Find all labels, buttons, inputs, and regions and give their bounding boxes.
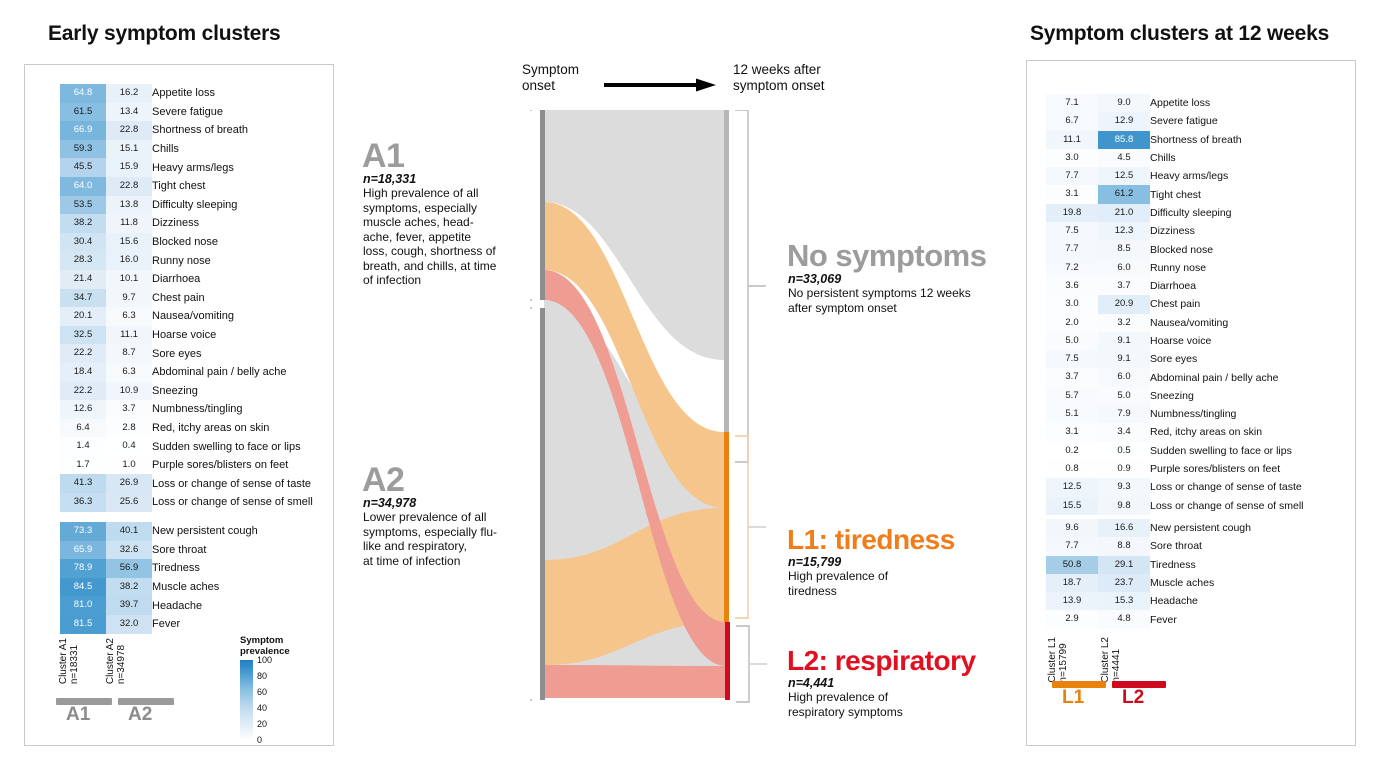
heatmap-cell-l1: 7.7 [1046, 167, 1098, 185]
heatmap-cell-l2: 3.7 [1098, 277, 1150, 295]
heatmap-row: 38.211.8Dizziness [60, 214, 313, 233]
heatmap-cell-l2: 12.5 [1098, 167, 1150, 185]
bracket-l1 [735, 436, 748, 618]
heatmap-row: 3.76.0Abdominal pain / belly ache [1046, 368, 1304, 386]
heatmap-cell-a2: 56.9 [106, 559, 152, 578]
symptom-label: Blocked nose [1150, 240, 1304, 258]
heatmap-cell-a1: 28.3 [60, 251, 106, 270]
heatmap-row: 81.532.0Fever [60, 615, 258, 634]
symptom-label: Tiredness [152, 559, 258, 578]
heatmap-cell-l1: 0.2 [1046, 442, 1098, 460]
node-bar-a1 [540, 110, 545, 300]
heatmap-cell-a1: 61.5 [60, 103, 106, 122]
heatmap-cell-a1: 66.9 [60, 121, 106, 140]
symptom-label: Runny nose [1150, 259, 1304, 277]
heatmap-row: 12.63.7Numbness/tingling [60, 400, 313, 419]
symptom-label: Nausea/vomiting [152, 307, 313, 326]
heatmap-cell-a2: 15.1 [106, 140, 152, 159]
heatmap-cell-l1: 3.6 [1046, 277, 1098, 295]
heatmap-cell-a1: 30.4 [60, 233, 106, 252]
heatmap-cell-l2: 21.0 [1098, 204, 1150, 222]
symptom-label: Hoarse voice [1150, 332, 1304, 350]
heatmap-row: 3.04.5Chills [1046, 149, 1304, 167]
heatmap-row: 12.59.3Loss or change of sense of taste [1046, 478, 1304, 496]
symptom-label: Severe fatigue [1150, 112, 1304, 130]
heatmap-cell-l2: 12.9 [1098, 112, 1150, 130]
heatmap-cell-l2: 20.9 [1098, 295, 1150, 313]
symptom-label: Sore eyes [152, 344, 313, 363]
heatmap-row: 13.915.3Headache [1046, 592, 1251, 610]
heatmap-cell-l2: 29.1 [1098, 556, 1150, 574]
heatmap-row: 7.78.5Blocked nose [1046, 240, 1304, 258]
heatmap-row: 5.75.0Sneezing [1046, 387, 1304, 405]
heatmap-cell-a1: 34.7 [60, 289, 106, 308]
heatmap-cell-l2: 6.0 [1098, 259, 1150, 277]
heatmap-cell-a2: 15.6 [106, 233, 152, 252]
legend-title: Symptom prevalence [240, 636, 312, 657]
heatmap-cell-a2: 10.9 [106, 382, 152, 401]
heatmap-row: 3.161.2Tight chest [1046, 185, 1304, 203]
heatmap-cell-a2: 40.1 [106, 522, 152, 541]
week12-heatmap-block-1: 7.19.0Appetite loss6.712.9Severe fatigue… [1046, 94, 1304, 515]
cluster-l1-caption: Cluster L1 n=15799 [1047, 637, 1069, 683]
bracket-a2 [530, 308, 532, 700]
heatmap-cell-l2: 5.0 [1098, 387, 1150, 405]
symptom-label: Fever [1150, 610, 1251, 628]
heatmap-cell-l2: 0.5 [1098, 442, 1150, 460]
heatmap-cell-l1: 3.0 [1046, 295, 1098, 313]
heatmap-cell-a1: 20.1 [60, 307, 106, 326]
heatmap-cell-l2: 9.0 [1098, 94, 1150, 112]
symptom-label: Chest pain [152, 289, 313, 308]
heatmap-cell-a2: 6.3 [106, 363, 152, 382]
symptom-label: Abdominal pain / belly ache [152, 363, 313, 382]
heatmap-cell-l1: 11.1 [1046, 131, 1098, 149]
node-title-a2: A2 [362, 461, 404, 500]
symptom-label: Runny nose [152, 251, 313, 270]
heatmap-cell-l1: 7.2 [1046, 259, 1098, 277]
heatmap-cell-a2: 2.8 [106, 419, 152, 438]
heatmap-row: 19.821.0Difficulty sleeping [1046, 204, 1304, 222]
heatmap-cell-a1: 6.4 [60, 419, 106, 438]
node-n-l2: n=4,441 [788, 676, 834, 690]
heatmap-cell-a2: 8.7 [106, 344, 152, 363]
node-desc-a1: High prevalence of all symptoms, especia… [363, 186, 496, 288]
heatmap-row: 84.538.2Muscle aches [60, 578, 258, 597]
node-n-l1: n=15,799 [788, 555, 841, 569]
symptom-label: Diarrhoea [1150, 277, 1304, 295]
heatmap-cell-l2: 12.3 [1098, 222, 1150, 240]
heatmap-cell-l1: 7.7 [1046, 537, 1098, 555]
heatmap-row: 5.17.9Numbness/tingling [1046, 405, 1304, 423]
heatmap-cell-a1: 45.5 [60, 158, 106, 177]
cluster-a2-caption: Cluster A2 n=34978 [105, 638, 127, 684]
symptom-label: Sneezing [152, 382, 313, 401]
symptom-label: Abdominal pain / belly ache [1150, 368, 1304, 386]
symptom-label: Tiredness [1150, 556, 1251, 574]
node-desc-nosymptoms: No persistent symptoms 12 weeks after sy… [788, 286, 971, 315]
heatmap-cell-l1: 6.7 [1046, 112, 1098, 130]
heatmap-cell-l2: 9.3 [1098, 478, 1150, 496]
page-title-right: Symptom clusters at 12 weeks [1030, 22, 1329, 46]
heatmap-cell-a1: 12.6 [60, 400, 106, 419]
node-title-a1: A1 [362, 137, 404, 176]
heatmap-row: 73.340.1New persistent cough [60, 522, 258, 541]
legend: Symptom prevalence 100806040200 [240, 636, 312, 740]
heatmap-row: 64.816.2Appetite loss [60, 84, 313, 103]
bracket-nosymptoms [735, 110, 748, 462]
heatmap-cell-l1: 13.9 [1046, 592, 1098, 610]
heatmap-cell-l2: 6.0 [1098, 368, 1150, 386]
heatmap-row: 61.513.4Severe fatigue [60, 103, 313, 122]
heatmap-cell-a2: 3.7 [106, 400, 152, 419]
heatmap-cell-a1: 64.8 [60, 84, 106, 103]
heatmap-row: 6.712.9Severe fatigue [1046, 112, 1304, 130]
symptom-label: Chest pain [1150, 295, 1304, 313]
symptom-label: Difficulty sleeping [152, 196, 313, 215]
symptom-label: Diarrhoea [152, 270, 313, 289]
heatmap-cell-l2: 23.7 [1098, 574, 1150, 592]
symptom-label: Severe fatigue [152, 103, 313, 122]
cluster-label-l2: L2 [1122, 687, 1144, 709]
node-title-nosymptoms: No symptoms [787, 238, 986, 274]
symptom-label: Muscle aches [152, 578, 258, 597]
heatmap-row: 45.515.9Heavy arms/legs [60, 158, 313, 177]
flow-a2-l2 [544, 665, 726, 698]
heatmap-row: 18.46.3Abdominal pain / belly ache [60, 363, 313, 382]
heatmap-cell-l1: 3.7 [1046, 368, 1098, 386]
bracket-a1 [530, 110, 532, 300]
heatmap-cell-a1: 22.2 [60, 344, 106, 363]
heatmap-cell-l2: 4.5 [1098, 149, 1150, 167]
heatmap-cell-a1: 21.4 [60, 270, 106, 289]
heatmap-cell-a1: 81.5 [60, 615, 106, 634]
heatmap-cell-a2: 13.4 [106, 103, 152, 122]
heatmap-row: 50.829.1Tiredness [1046, 556, 1251, 574]
node-n-a2: n=34,978 [363, 496, 416, 510]
symptom-label: Fever [152, 615, 258, 634]
heatmap-row: 2.94.8Fever [1046, 610, 1251, 628]
heatmap-cell-l1: 50.8 [1046, 556, 1098, 574]
heatmap-row: 3.020.9Chest pain [1046, 295, 1304, 313]
legend-gradient-bar [240, 660, 253, 740]
heatmap-row: 18.723.7Muscle aches [1046, 574, 1251, 592]
heatmap-row: 22.210.9Sneezing [60, 382, 313, 401]
heatmap-cell-a1: 81.0 [60, 596, 106, 615]
heatmap-cell-l1: 9.6 [1046, 519, 1098, 537]
heatmap-row: 64.022.8Tight chest [60, 177, 313, 196]
heatmap-cell-l2: 85.8 [1098, 131, 1150, 149]
heatmap-cell-l1: 7.7 [1046, 240, 1098, 258]
symptom-label: Shortness of breath [1150, 131, 1304, 149]
heatmap-cell-l2: 7.9 [1098, 405, 1150, 423]
heatmap-cell-l1: 12.5 [1046, 478, 1098, 496]
heatmap-row: 2.03.2Nausea/vomiting [1046, 314, 1304, 332]
heatmap-row: 36.325.6Loss or change of sense of smell [60, 493, 313, 512]
heatmap-cell-a1: 64.0 [60, 177, 106, 196]
heatmap-cell-a2: 6.3 [106, 307, 152, 326]
symptom-label: Sudden swelling to face or lips [1150, 442, 1304, 460]
heatmap-cell-a2: 22.8 [106, 121, 152, 140]
symptom-label: Red, itchy areas on skin [1150, 423, 1304, 441]
heatmap-row: 30.415.6Blocked nose [60, 233, 313, 252]
heatmap-row: 15.59.8Loss or change of sense of smell [1046, 497, 1304, 515]
heatmap-cell-l1: 5.0 [1046, 332, 1098, 350]
heatmap-row: 7.59.1Sore eyes [1046, 350, 1304, 368]
cluster-label-l1: L1 [1062, 687, 1084, 709]
symptom-label: Sudden swelling to face or lips [152, 437, 313, 456]
early-heatmap-block-1: 64.816.2Appetite loss61.513.4Severe fati… [60, 84, 313, 512]
symptom-label: Hoarse voice [152, 326, 313, 345]
heatmap-cell-l2: 4.8 [1098, 610, 1150, 628]
heatmap-cell-a2: 38.2 [106, 578, 152, 597]
heatmap-cell-l1: 7.1 [1046, 94, 1098, 112]
symptom-label: Heavy arms/legs [152, 158, 313, 177]
early-heatmap-block-2: 73.340.1New persistent cough65.932.6Sore… [60, 522, 258, 634]
symptom-label: Loss or change of sense of taste [1150, 478, 1304, 496]
symptom-label: Chills [1150, 149, 1304, 167]
legend-tick: 0 [257, 735, 262, 745]
heatmap-cell-a1: 41.3 [60, 474, 106, 493]
symptom-label: Loss or change of sense of taste [152, 474, 313, 493]
bracket-l2 [736, 626, 749, 702]
heatmap-cell-a1: 78.9 [60, 559, 106, 578]
node-desc-l1: High prevalence of tiredness [788, 569, 888, 598]
node-title-l2: L2: respiratory [787, 645, 976, 677]
node-bar-a2 [540, 308, 545, 700]
heatmap-row: 81.039.7Headache [60, 596, 258, 615]
heatmap-row: 0.80.9Purple sores/blisters on feet [1046, 460, 1304, 478]
node-desc-a2: Lower prevalence of all symptoms, especi… [363, 510, 497, 568]
heatmap-cell-l1: 19.8 [1046, 204, 1098, 222]
symptom-label: Tight chest [1150, 185, 1304, 203]
heatmap-cell-a2: 11.1 [106, 326, 152, 345]
center-header-12weeks: 12 weeks after symptom onset [733, 62, 825, 94]
heatmap-cell-a2: 11.8 [106, 214, 152, 233]
heatmap-cell-a1: 65.9 [60, 541, 106, 560]
symptom-label: Sneezing [1150, 387, 1304, 405]
symptom-label: Sore throat [152, 541, 258, 560]
symptom-label: Purple sores/blisters on feet [1150, 460, 1304, 478]
heatmap-row: 6.42.8Red, itchy areas on skin [60, 419, 313, 438]
heatmap-cell-l1: 18.7 [1046, 574, 1098, 592]
cluster-l2-caption: Cluster L2 n=4441 [1100, 637, 1122, 683]
heatmap-cell-l2: 8.8 [1098, 537, 1150, 555]
heatmap-row: 34.79.7Chest pain [60, 289, 313, 308]
legend-tick: 20 [257, 719, 267, 729]
heatmap-cell-a2: 32.0 [106, 615, 152, 634]
heatmap-cell-a1: 59.3 [60, 140, 106, 159]
symptom-label: Purple sores/blisters on feet [152, 456, 313, 475]
heatmap-row: 78.956.9Tiredness [60, 559, 258, 578]
heatmap-cell-a2: 22.8 [106, 177, 152, 196]
right-arrow-icon [604, 78, 716, 92]
heatmap-cell-l1: 3.1 [1046, 185, 1098, 203]
symptom-label: Nausea/vomiting [1150, 314, 1304, 332]
heatmap-cell-l2: 16.6 [1098, 519, 1150, 537]
symptom-label: Dizziness [152, 214, 313, 233]
heatmap-cell-a1: 1.7 [60, 456, 106, 475]
cluster-label-a1: A1 [66, 704, 90, 726]
heatmap-cell-l2: 0.9 [1098, 460, 1150, 478]
heatmap-cell-l2: 3.4 [1098, 423, 1150, 441]
heatmap-row: 20.16.3Nausea/vomiting [60, 307, 313, 326]
legend-tick: 100 [257, 655, 272, 665]
heatmap-cell-l2: 8.5 [1098, 240, 1150, 258]
heatmap-row: 3.63.7Diarrhoea [1046, 277, 1304, 295]
heatmap-cell-a2: 16.0 [106, 251, 152, 270]
week12-heatmap-block-2: 9.616.6New persistent cough7.78.8Sore th… [1046, 519, 1251, 629]
heatmap-cell-l1: 7.5 [1046, 222, 1098, 240]
heatmap-cell-a2: 39.7 [106, 596, 152, 615]
legend-tick: 80 [257, 671, 267, 681]
heatmap-row: 7.78.8Sore throat [1046, 537, 1251, 555]
symptom-label: Appetite loss [1150, 94, 1304, 112]
symptom-label: Dizziness [1150, 222, 1304, 240]
heatmap-row: 7.26.0Runny nose [1046, 259, 1304, 277]
node-bar-l2 [725, 622, 730, 700]
center-header-onset: Symptom onset [522, 62, 579, 94]
heatmap-cell-a2: 32.6 [106, 541, 152, 560]
heatmap-cell-l1: 2.9 [1046, 610, 1098, 628]
heatmap-cell-l2: 9.1 [1098, 332, 1150, 350]
node-bar-l1 [724, 432, 729, 622]
heatmap-cell-a2: 1.0 [106, 456, 152, 475]
heatmap-row: 32.511.1Hoarse voice [60, 326, 313, 345]
heatmap-cell-a2: 25.6 [106, 493, 152, 512]
symptom-label: Blocked nose [152, 233, 313, 252]
node-title-l1: L1: tiredness [787, 524, 955, 556]
heatmap-row: 28.316.0Runny nose [60, 251, 313, 270]
symptom-label: Red, itchy areas on skin [152, 419, 313, 438]
symptom-label: Loss or change of sense of smell [152, 493, 313, 512]
heatmap-cell-a2: 10.1 [106, 270, 152, 289]
heatmap-cell-a1: 32.5 [60, 326, 106, 345]
symptom-label: Difficulty sleeping [1150, 204, 1304, 222]
heatmap-row: 11.185.8Shortness of breath [1046, 131, 1304, 149]
heatmap-cell-a2: 9.7 [106, 289, 152, 308]
heatmap-row: 65.932.6Sore throat [60, 541, 258, 560]
heatmap-cell-l1: 0.8 [1046, 460, 1098, 478]
symptom-label: Muscle aches [1150, 574, 1251, 592]
symptom-label: New persistent cough [1150, 519, 1251, 537]
symptom-label: Shortness of breath [152, 121, 313, 140]
heatmap-cell-l1: 3.1 [1046, 423, 1098, 441]
heatmap-row: 21.410.1Diarrhoea [60, 270, 313, 289]
heatmap-cell-a1: 38.2 [60, 214, 106, 233]
legend-tick: 40 [257, 703, 267, 713]
heatmap-row: 22.28.7Sore eyes [60, 344, 313, 363]
symptom-label: New persistent cough [152, 522, 258, 541]
heatmap-row: 1.40.4Sudden swelling to face or lips [60, 437, 313, 456]
heatmap-cell-a2: 16.2 [106, 84, 152, 103]
heatmap-row: 41.326.9Loss or change of sense of taste [60, 474, 313, 493]
node-n-nosymptoms: n=33,069 [788, 272, 841, 286]
heatmap-cell-a1: 53.5 [60, 196, 106, 215]
symptom-label: Tight chest [152, 177, 313, 196]
heatmap-row: 66.922.8Shortness of breath [60, 121, 313, 140]
heatmap-cell-l1: 15.5 [1046, 497, 1098, 515]
node-desc-l2: High prevalence of respiratory symptoms [788, 690, 903, 719]
heatmap-cell-l1: 3.0 [1046, 149, 1098, 167]
heatmap-row: 7.712.5Heavy arms/legs [1046, 167, 1304, 185]
cluster-a1-caption: Cluster A1 n=18331 [58, 638, 80, 684]
symptom-label: Chills [152, 140, 313, 159]
heatmap-cell-l1: 5.7 [1046, 387, 1098, 405]
heatmap-cell-l2: 61.2 [1098, 185, 1150, 203]
heatmap-row: 3.13.4Red, itchy areas on skin [1046, 423, 1304, 441]
node-n-a1: n=18,331 [363, 172, 416, 186]
heatmap-row: 1.71.0Purple sores/blisters on feet [60, 456, 313, 475]
heatmap-cell-a1: 18.4 [60, 363, 106, 382]
legend-tick: 60 [257, 687, 267, 697]
symptom-label: Numbness/tingling [152, 400, 313, 419]
symptom-label: Headache [152, 596, 258, 615]
heatmap-row: 0.20.5Sudden swelling to face or lips [1046, 442, 1304, 460]
symptom-label: Sore eyes [1150, 350, 1304, 368]
heatmap-cell-l2: 9.8 [1098, 497, 1150, 515]
heatmap-cell-l2: 9.1 [1098, 350, 1150, 368]
heatmap-row: 59.315.1Chills [60, 140, 313, 159]
heatmap-row: 53.513.8Difficulty sleeping [60, 196, 313, 215]
heatmap-cell-l2: 15.3 [1098, 592, 1150, 610]
heatmap-cell-l1: 2.0 [1046, 314, 1098, 332]
node-bar-nosymptoms [724, 110, 729, 470]
cluster-label-a2: A2 [128, 704, 152, 726]
heatmap-row: 5.09.1Hoarse voice [1046, 332, 1304, 350]
heatmap-cell-l2: 3.2 [1098, 314, 1150, 332]
page-title-left: Early symptom clusters [48, 22, 281, 46]
figure-canvas: Early symptom clusters Symptom clusters … [0, 0, 1378, 772]
heatmap-row: 9.616.6New persistent cough [1046, 519, 1251, 537]
sankey-diagram [530, 110, 780, 720]
heatmap-row: 7.19.0Appetite loss [1046, 94, 1304, 112]
heatmap-cell-a1: 73.3 [60, 522, 106, 541]
symptom-label: Heavy arms/legs [1150, 167, 1304, 185]
symptom-label: Loss or change of sense of smell [1150, 497, 1304, 515]
symptom-label: Appetite loss [152, 84, 313, 103]
heatmap-row: 7.512.3Dizziness [1046, 222, 1304, 240]
heatmap-cell-a1: 84.5 [60, 578, 106, 597]
heatmap-cell-a2: 0.4 [106, 437, 152, 456]
symptom-label: Sore throat [1150, 537, 1251, 555]
heatmap-cell-a1: 1.4 [60, 437, 106, 456]
symptom-label: Headache [1150, 592, 1251, 610]
heatmap-cell-a2: 15.9 [106, 158, 152, 177]
heatmap-cell-l1: 5.1 [1046, 405, 1098, 423]
heatmap-cell-a2: 26.9 [106, 474, 152, 493]
heatmap-cell-a2: 13.8 [106, 196, 152, 215]
symptom-label: Numbness/tingling [1150, 405, 1304, 423]
heatmap-cell-a1: 36.3 [60, 493, 106, 512]
heatmap-cell-a1: 22.2 [60, 382, 106, 401]
heatmap-cell-l1: 7.5 [1046, 350, 1098, 368]
